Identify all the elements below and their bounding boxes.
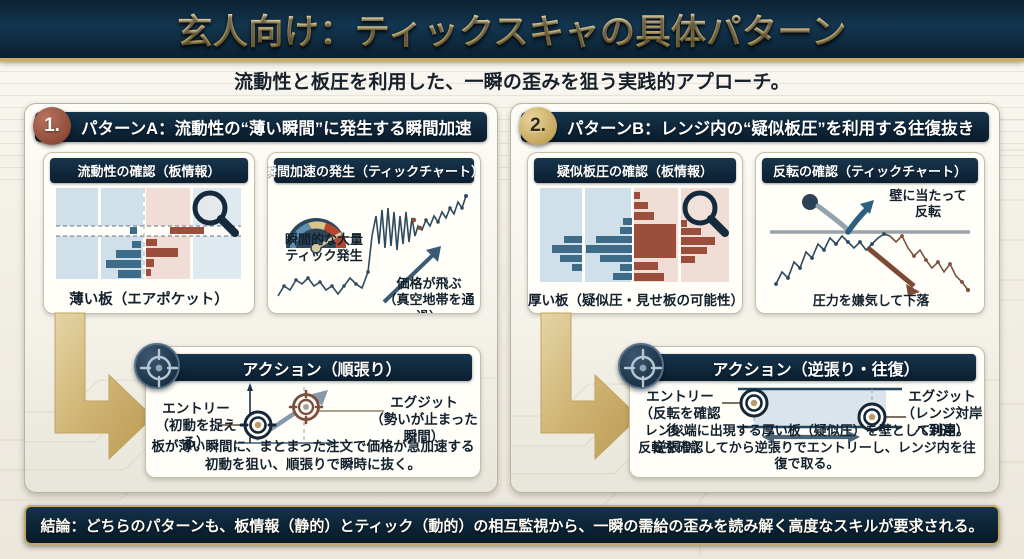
pattern-a-number: 1.: [33, 107, 71, 145]
conclusion-text: 結論：どちらのパターンも、板情報（静的）とティック（動的）の相互監視から、一瞬の…: [41, 515, 984, 536]
card-reversal-title: 反転の確認（ティックチャート）: [773, 161, 967, 180]
card-reversal-label-1: 壁に当たって 反転: [876, 188, 980, 221]
card-acceleration-header: 瞬間加速の発生（ティックチャート）: [274, 158, 474, 183]
pattern-b-number: 2.: [519, 107, 557, 145]
card-liquidity-check-caption: 薄い板（エアポケット）: [44, 288, 254, 309]
header-bar: 玄人向け：ティックスキャの具体パターン: [0, 0, 1024, 61]
card-acceleration-label-2: 価格が飛ぶ （真空地帯を通過）: [376, 276, 481, 314]
page-subtitle: 流動性と板圧を利用した、一瞬の歪みを狙う実践的アプローチ。: [0, 63, 1024, 97]
action-counter-trend-title: アクション（逆張り・往復）: [712, 356, 919, 380]
infographic-root: 玄人向け：ティックスキャの具体パターン 流動性と板圧を利用した、一瞬の歪みを狙う…: [0, 0, 1024, 559]
entry-target-icon: [741, 390, 767, 416]
action-trend-follow-note: 板が薄い瞬間に、まとまった注文で価格が急加速する 初動を狙い、順張りで瞬時に抜く…: [150, 438, 476, 473]
entry-target-icon: [241, 412, 275, 438]
action-counter-trend-note: レンジ端に出現する厚い板（疑似圧）を壁として利用。 反転を確認してから逆張りでエ…: [634, 423, 980, 473]
pattern-b-title: パターンB：レンジ内の“疑似板圧”を利用する往復抜き: [567, 115, 974, 139]
action-trend-follow: アクション（順張り）: [145, 346, 481, 478]
conclusion-bar: 結論：どちらのパターンも、板情報（静的）とティック（動的）の相互監視から、一瞬の…: [24, 505, 1000, 545]
card-reversal-body: 壁に当たって 反転 圧力を嫌気して下落: [756, 186, 984, 313]
decline-arrow: [868, 248, 920, 296]
pattern-a-title: パターンA：流動性の“薄い瞬間”に発生する瞬間加速: [81, 115, 472, 139]
action-counter-trend: アクション（逆張り・往復）: [629, 346, 985, 478]
card-fake-pressure-title: 疑似板圧の確認（板情報）: [557, 161, 713, 180]
thick-orderbook-chart: [528, 186, 743, 284]
card-liquidity-check: 流動性の確認（板情報）: [43, 152, 255, 314]
card-reversal: 反転の確認（ティックチャート）: [755, 152, 985, 314]
page-title: 玄人向け：ティックスキャの具体パターン: [177, 4, 847, 55]
card-reversal-header: 反転の確認（ティックチャート）: [762, 158, 978, 183]
crosshair-icon: [134, 343, 180, 389]
crosshair-icon: [618, 343, 664, 389]
card-acceleration: 瞬間加速の発生（ティックチャート）: [267, 152, 481, 314]
flow-arrow-down-right: [47, 313, 157, 478]
pattern-a-panel: 1. パターンA：流動性の“薄い瞬間”に発生する瞬間加速 流動性の確認（板情報）: [24, 103, 498, 493]
pattern-a-header: 1. パターンA：流動性の“薄い瞬間”に発生する瞬間加速: [35, 112, 487, 142]
ball-icon: [802, 194, 818, 210]
card-liquidity-check-title: 流動性の確認（板情報）: [77, 161, 220, 180]
action-trend-follow-title: アクション（順張り）: [242, 356, 401, 380]
flow-arrow-down-right: [533, 313, 643, 478]
card-acceleration-title: 瞬間加速の発生（ティックチャート）: [267, 161, 481, 180]
pattern-b-panel: 2. パターンB：レンジ内の“疑似板圧”を利用する往復抜き 疑似板圧の確認（板情…: [510, 103, 1000, 493]
action-counter-trend-header: アクション（逆張り・往復）: [656, 354, 976, 381]
reversal-arrow: [818, 200, 874, 232]
card-fake-pressure: 疑似板圧の確認（板情報）: [527, 152, 743, 314]
pattern-b-header: 2. パターンB：レンジ内の“疑似板圧”を利用する往復抜き: [521, 112, 989, 142]
action-trend-follow-header: アクション（順張り）: [172, 354, 472, 381]
card-reversal-label-2: 圧力を嫌気して下落: [756, 293, 985, 309]
card-fake-pressure-caption: 厚い板（疑似圧・見せ板の可能性）: [528, 289, 742, 309]
card-acceleration-body: 瞬間的な大量 ティック発生 価格が飛ぶ （真空地帯を通過）: [268, 186, 480, 313]
card-liquidity-check-header: 流動性の確認（板情報）: [50, 158, 248, 183]
card-fake-pressure-header: 疑似板圧の確認（板情報）: [534, 158, 736, 183]
card-acceleration-label-1: 瞬間的な大量 ティック発生: [272, 232, 376, 265]
thin-orderbook-chart: [44, 186, 255, 281]
